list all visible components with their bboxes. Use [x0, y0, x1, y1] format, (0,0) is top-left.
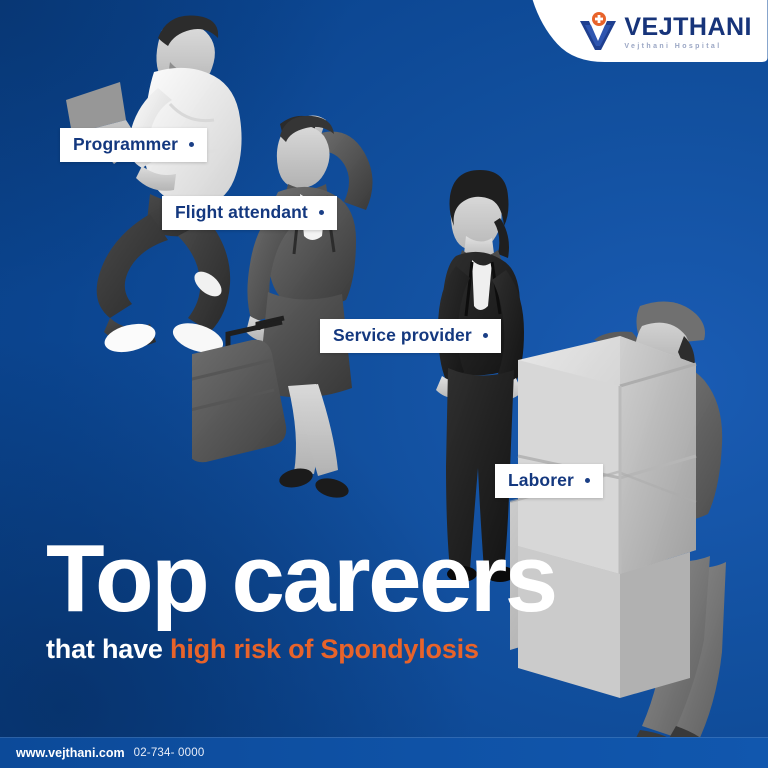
- logo-wordmark: VEJTHANI: [624, 15, 752, 40]
- headline-secondary-white: that have: [46, 634, 170, 664]
- logo-tagline: Vejthani Hospital: [624, 43, 752, 50]
- chip-label: Flight attendant: [175, 202, 308, 223]
- poster-canvas: VEJTHANI Vejthani Hospital Programmer Fl…: [0, 0, 768, 768]
- vejthani-v-cross-icon: [577, 12, 619, 52]
- label-chip-flight-attendant[interactable]: Flight attendant: [162, 196, 337, 230]
- person-flight-attendant: [192, 80, 402, 520]
- brand-logo[interactable]: VEJTHANI Vejthani Hospital: [577, 12, 752, 52]
- footer-bar: www.vejthani.com 02-734- 0000: [0, 737, 768, 768]
- chip-label: Laborer: [508, 470, 574, 491]
- footer-website[interactable]: www.vejthani.com: [16, 746, 125, 760]
- chip-label: Service provider: [333, 325, 472, 346]
- bullet-dot-icon: [483, 333, 488, 338]
- headline-secondary: that have high risk of Spondylosis: [46, 634, 556, 665]
- bullet-dot-icon: [189, 142, 194, 147]
- headline-secondary-orange: high risk of Spondylosis: [170, 634, 479, 664]
- headline-primary: Top careers: [46, 535, 556, 623]
- bullet-dot-icon: [585, 478, 590, 483]
- footer-phone[interactable]: 02-734- 0000: [134, 747, 205, 759]
- chip-label: Programmer: [73, 134, 178, 155]
- label-chip-laborer[interactable]: Laborer: [495, 464, 603, 498]
- label-chip-service-provider[interactable]: Service provider: [320, 319, 501, 353]
- bullet-dot-icon: [319, 210, 324, 215]
- label-chip-programmer[interactable]: Programmer: [60, 128, 207, 162]
- headline-block: Top careers that have high risk of Spond…: [46, 535, 556, 665]
